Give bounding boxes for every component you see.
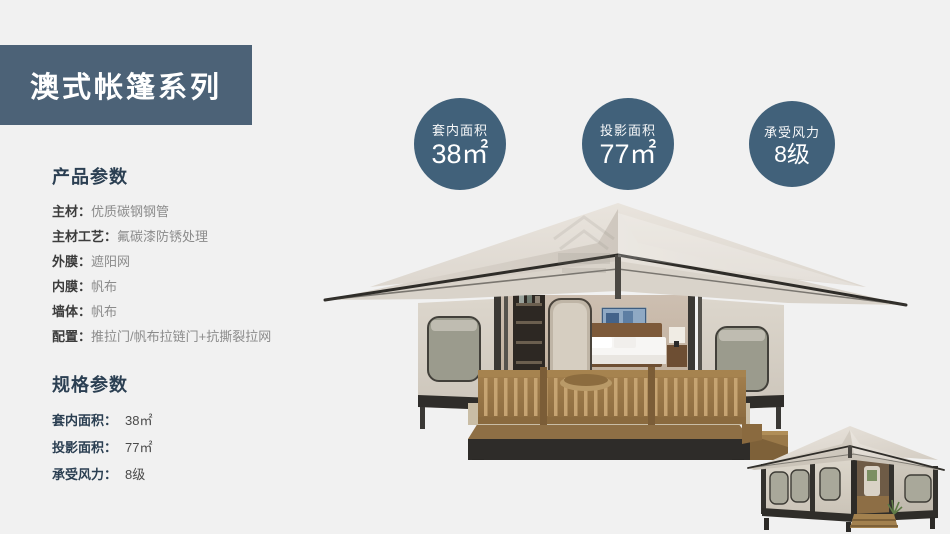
spec-row: 投影面积：77㎡ — [52, 434, 352, 461]
param-label: 墙体： — [52, 304, 91, 319]
product-params-group: 产品参数 主材：优质碳钢钢管 主材工艺：氟碳漆防锈处理 外膜：遮阳网 内膜：帆布… — [52, 163, 352, 349]
spec-value: 77㎡ — [125, 440, 152, 455]
param-row: 配置：推拉门/帆布拉链门+抗撕裂拉网 — [52, 324, 352, 349]
spec-row: 套内面积：38㎡ — [52, 407, 352, 434]
slide-root: 澳式帐篷系列 产品参数 主材：优质碳钢钢管 主材工艺：氟碳漆防锈处理 外膜：遮阳… — [0, 0, 950, 534]
tent-thumbnail-illustration — [742, 418, 948, 534]
param-value: 遮阳网 — [91, 254, 130, 269]
spec-value: 8级 — [125, 467, 145, 482]
badge-label: 套内面积 — [432, 120, 488, 139]
param-label: 主材： — [52, 204, 91, 219]
param-row: 主材工艺：氟碳漆防锈处理 — [52, 224, 352, 249]
param-row: 墙体：帆布 — [52, 299, 352, 324]
param-row: 主材：优质碳钢钢管 — [52, 199, 352, 224]
param-value: 帆布 — [91, 279, 117, 294]
spec-label: 套内面积： — [52, 413, 117, 428]
spec-value: 38㎡ — [125, 413, 152, 428]
param-label: 主材工艺： — [52, 229, 117, 244]
deck-fragment — [742, 424, 762, 444]
spec-row: 承受风力：8级 — [52, 461, 352, 488]
badge-interior-area: 套内面积 38㎡ — [414, 98, 506, 190]
badge-label: 投影面积 — [600, 120, 656, 139]
spec-label: 投影面积： — [52, 440, 117, 455]
param-label: 内膜： — [52, 279, 91, 294]
param-value: 氟碳漆防锈处理 — [117, 229, 208, 244]
param-value: 优质碳钢钢管 — [91, 204, 169, 219]
product-params-heading: 产品参数 — [52, 163, 352, 189]
badge-value: 38㎡ — [431, 140, 488, 168]
tent-deck — [468, 367, 788, 460]
page-title: 澳式帐篷系列 — [30, 64, 222, 106]
param-label: 配置： — [52, 329, 91, 344]
badge-projected-area: 投影面积 77㎡ — [582, 98, 674, 190]
tent-roof — [325, 203, 906, 305]
spec-params-group: 规格参数 套内面积：38㎡ 投影面积：77㎡ 承受风力：8级 — [52, 371, 352, 488]
param-row: 外膜：遮阳网 — [52, 249, 352, 274]
badge-wind-resistance: 承受风力 8级 — [749, 101, 835, 187]
badge-label: 承受风力 — [764, 122, 820, 141]
spec-params-heading: 规格参数 — [52, 371, 352, 397]
title-banner: 澳式帐篷系列 — [0, 45, 252, 125]
param-label: 外膜： — [52, 254, 91, 269]
spec-panel: 产品参数 主材：优质碳钢钢管 主材工艺：氟碳漆防锈处理 外膜：遮阳网 内膜：帆布… — [52, 163, 352, 488]
badge-value: 77㎡ — [599, 140, 656, 168]
param-value: 帆布 — [91, 304, 117, 319]
badge-value: 8级 — [774, 142, 810, 166]
spec-label: 承受风力： — [52, 467, 117, 482]
param-row: 内膜：帆布 — [52, 274, 352, 299]
param-value: 推拉门/帆布拉链门+抗撕裂拉网 — [91, 329, 271, 344]
